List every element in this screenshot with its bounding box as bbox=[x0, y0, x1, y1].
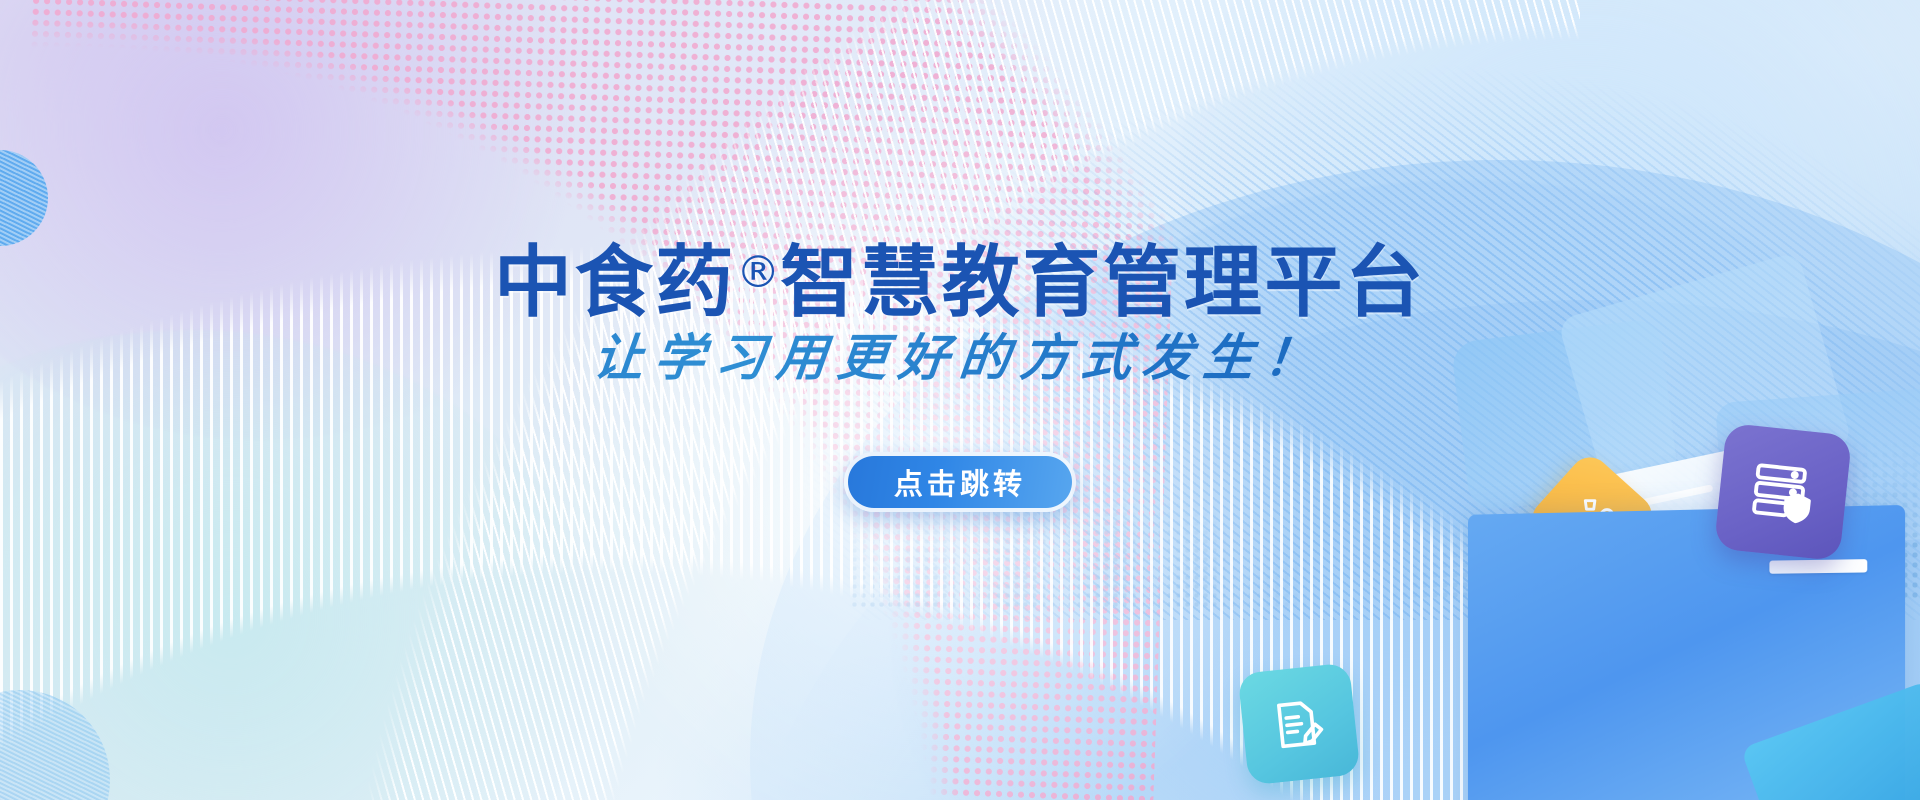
hero-banner: 中食药®智慧教育管理平台 让学习用更好的方式发生！ 点击跳转 bbox=[0, 0, 1920, 800]
page-title-part-two: 智慧教育管理平台 bbox=[780, 238, 1426, 328]
cta-container: 点击跳转 bbox=[0, 452, 1920, 512]
page-subtitle: 让学习用更好的方式发生！ bbox=[0, 318, 1920, 390]
hero-content: 中食药®智慧教育管理平台 让学习用更好的方式发生！ 点击跳转 bbox=[0, 0, 1920, 800]
jump-button[interactable]: 点击跳转 bbox=[844, 452, 1076, 512]
registered-trademark-icon: ® bbox=[736, 247, 780, 298]
page-title-part-one: 中食药 bbox=[494, 238, 736, 328]
page-title: 中食药®智慧教育管理平台 bbox=[0, 220, 1920, 332]
